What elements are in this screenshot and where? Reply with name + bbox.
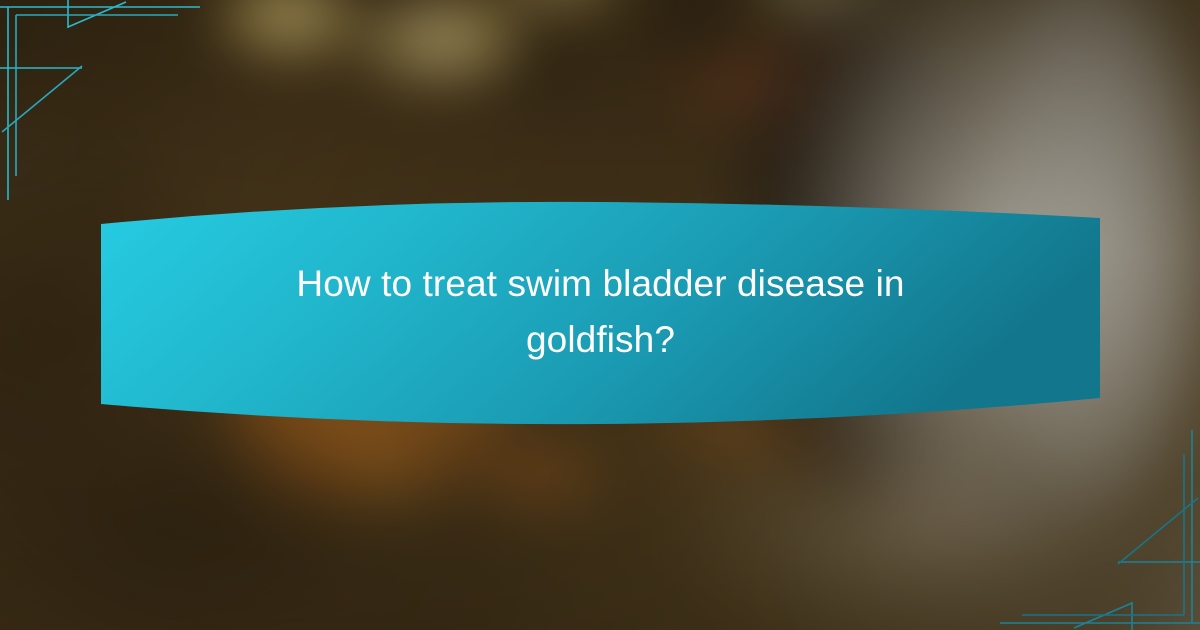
headline-container: How to treat swim bladder disease in gol…	[101, 198, 1100, 426]
corner-lines-bottom-right-icon	[990, 430, 1200, 630]
page-title: How to treat swim bladder disease in gol…	[261, 256, 941, 368]
corner-lines-top-left-icon	[0, 0, 210, 200]
headline-banner: How to treat swim bladder disease in gol…	[101, 198, 1100, 426]
article-hero-card: How to treat swim bladder disease in gol…	[0, 0, 1200, 630]
